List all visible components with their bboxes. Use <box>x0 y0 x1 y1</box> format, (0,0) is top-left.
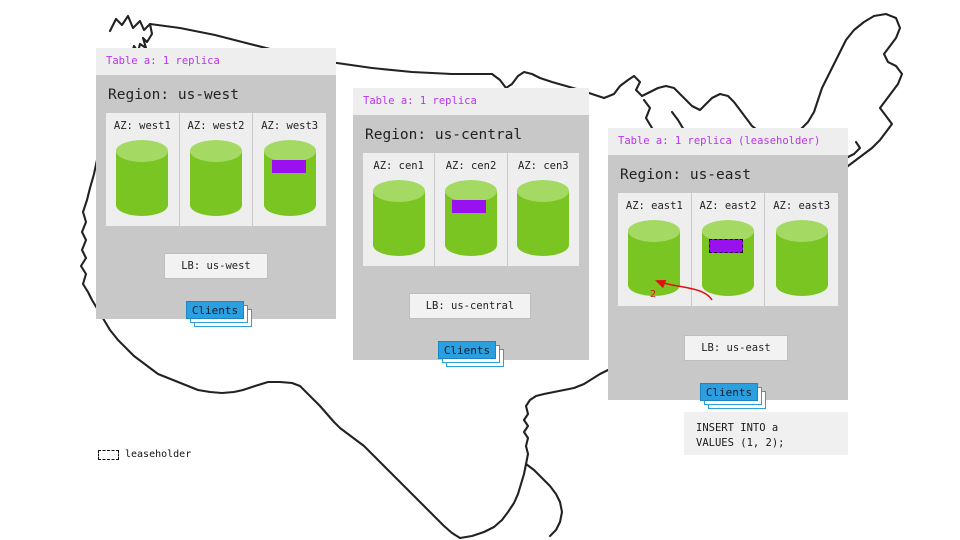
region-panel-us-west: Table a: 1 replica Region: us-west AZ: w… <box>96 48 336 319</box>
az-label: AZ: east2 <box>696 200 761 212</box>
az-label: AZ: east1 <box>622 200 687 212</box>
az-label: AZ: cen3 <box>512 160 575 172</box>
clients-stack-us-central[interactable]: Clients <box>438 341 504 367</box>
az-label: AZ: east3 <box>769 200 834 212</box>
az-label: AZ: cen2 <box>439 160 502 172</box>
legend-leaseholder: leaseholder <box>98 449 191 460</box>
cylinder-icon <box>774 219 830 297</box>
az-label: AZ: west3 <box>257 120 322 132</box>
az-label: AZ: west1 <box>110 120 175 132</box>
load-balancer-us-central[interactable]: LB: us-central <box>409 293 531 319</box>
clients-button[interactable]: Clients <box>438 341 496 359</box>
cylinder-icon <box>262 139 318 217</box>
region-body: Region: us-west AZ: west1 AZ: west2 <box>96 75 336 319</box>
cylinder-icon <box>371 179 427 257</box>
cylinder-icon <box>700 219 756 297</box>
region-replica-header: Table a: 1 replica <box>96 48 336 75</box>
clients-stack-us-west[interactable]: Clients <box>186 301 252 327</box>
az-label: AZ: west2 <box>184 120 249 132</box>
region-body: Region: us-east AZ: east1 AZ: east2 <box>608 155 848 400</box>
cylinder-icon <box>515 179 571 257</box>
region-replica-header: Table a: 1 replica (leaseholder) <box>608 128 848 155</box>
cylinder-icon <box>114 139 170 217</box>
replica-chip-leaseholder <box>709 239 743 253</box>
az-label: AZ: cen1 <box>367 160 430 172</box>
region-panel-us-east: Table a: 1 replica (leaseholder) Region:… <box>608 128 848 400</box>
diagram-canvas: Table a: 1 replica Region: us-west AZ: w… <box>0 0 960 540</box>
az-cell-east2[interactable]: AZ: east2 <box>691 193 765 306</box>
db-node-east2[interactable] <box>700 219 756 297</box>
db-node-cen3[interactable] <box>515 179 571 257</box>
cylinder-icon <box>188 139 244 217</box>
dashed-rect-icon <box>98 450 119 460</box>
load-balancer-us-west[interactable]: LB: us-west <box>164 253 268 279</box>
db-node-west1[interactable] <box>114 139 170 217</box>
clients-button[interactable]: Clients <box>186 301 244 319</box>
load-balancer-us-east[interactable]: LB: us-east <box>684 335 788 361</box>
region-body: Region: us-central AZ: cen1 AZ: cen2 <box>353 115 589 360</box>
az-cell-cen2[interactable]: AZ: cen2 <box>434 153 506 266</box>
db-node-east3[interactable] <box>774 219 830 297</box>
db-node-west3[interactable] <box>262 139 318 217</box>
sql-statement-box: INSERT INTO a VALUES (1, 2); <box>684 412 848 455</box>
clients-button[interactable]: Clients <box>700 383 758 401</box>
arrow-step-label: 2 <box>650 289 656 300</box>
replica-chip <box>452 200 486 213</box>
region-panel-us-central: Table a: 1 replica Region: us-central AZ… <box>353 88 589 360</box>
clients-stack-us-east[interactable]: Clients <box>700 383 766 409</box>
region-title: Region: us-east <box>620 167 838 183</box>
az-cell-east3[interactable]: AZ: east3 <box>764 193 838 306</box>
db-node-west2[interactable] <box>188 139 244 217</box>
replica-chip <box>272 160 306 173</box>
az-cell-west3[interactable]: AZ: west3 <box>252 113 326 226</box>
az-cell-cen1[interactable]: AZ: cen1 <box>363 153 434 266</box>
az-row: AZ: cen1 AZ: cen2 <box>363 153 579 266</box>
az-cell-west1[interactable]: AZ: west1 <box>106 113 179 226</box>
az-row: AZ: west1 AZ: west2 <box>106 113 326 226</box>
db-node-east1[interactable] <box>626 219 682 297</box>
cylinder-icon <box>626 219 682 297</box>
az-cell-west2[interactable]: AZ: west2 <box>179 113 253 226</box>
region-title: Region: us-central <box>365 127 579 143</box>
region-title: Region: us-west <box>108 87 326 103</box>
az-cell-cen3[interactable]: AZ: cen3 <box>507 153 579 266</box>
db-node-cen2[interactable] <box>443 179 499 257</box>
cylinder-icon <box>443 179 499 257</box>
legend-label: leaseholder <box>125 449 191 460</box>
region-replica-header: Table a: 1 replica <box>353 88 589 115</box>
db-node-cen1[interactable] <box>371 179 427 257</box>
